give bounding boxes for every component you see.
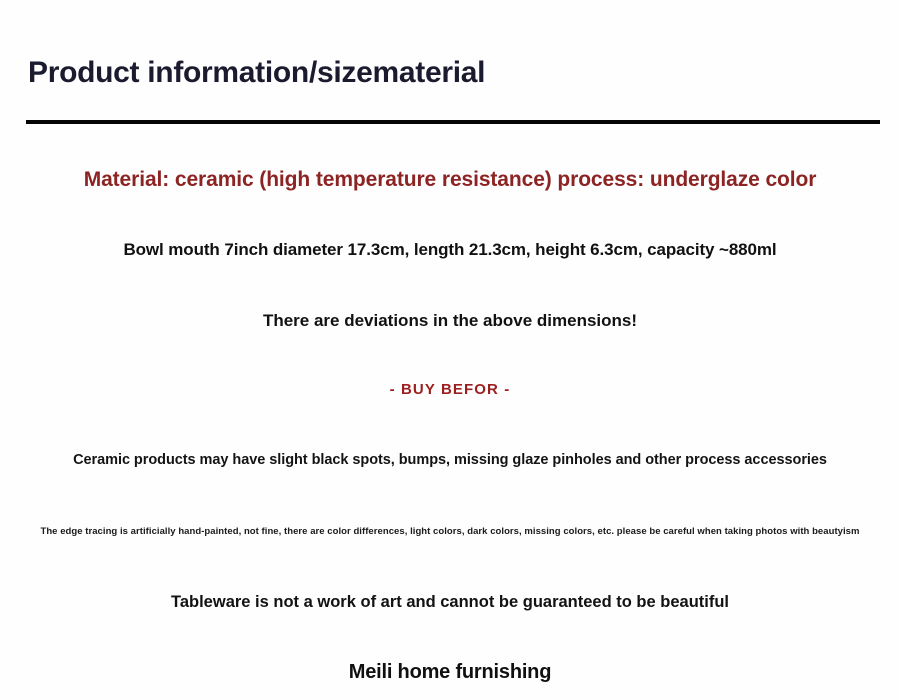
hand-painting-fine-print: The edge tracing is artificially hand-pa… <box>0 526 900 537</box>
material-process-line: Material: ceramic (high temperature resi… <box>0 168 900 192</box>
brand-name: Meili home furnishing <box>0 661 900 684</box>
dimensions-line: Bowl mouth 7inch diameter 17.3cm, length… <box>0 240 900 260</box>
buy-before-banner: - BUY BEFOR - <box>0 381 900 398</box>
page-title: Product information/sizematerial <box>28 56 485 91</box>
page-title-text: Product information/sizematerial <box>28 56 485 89</box>
title-divider <box>26 120 880 124</box>
tableware-notice: Tableware is not a work of art and canno… <box>0 593 900 612</box>
product-information-page: Product information/sizematerial Materia… <box>0 0 900 700</box>
ceramic-defects-notice: Ceramic products may have slight black s… <box>0 452 900 468</box>
deviation-notice: There are deviations in the above dimens… <box>0 311 900 331</box>
